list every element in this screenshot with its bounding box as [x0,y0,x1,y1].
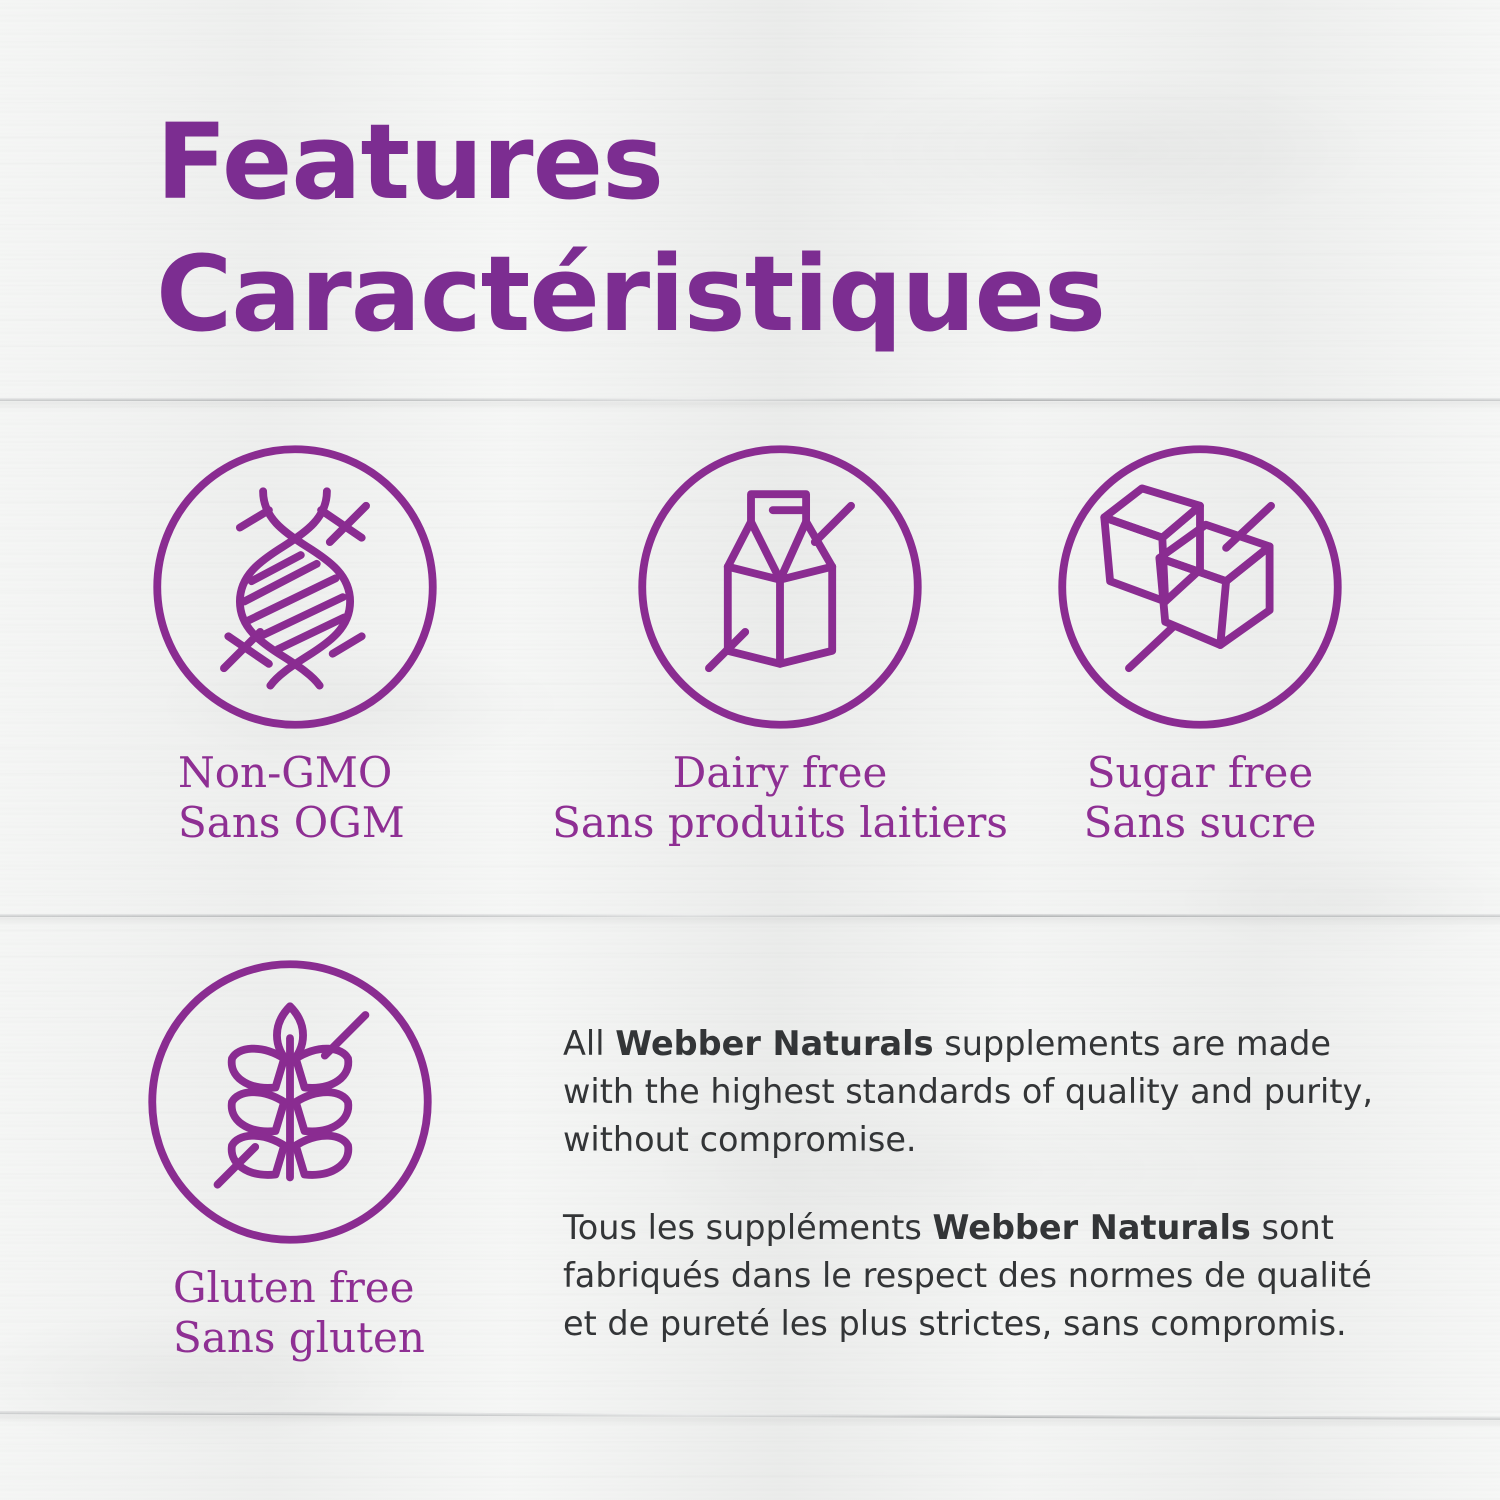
feature-sugar-free: Sugar free Sans sucre [930,442,1470,848]
wheat-no-icon [145,957,435,1247]
brand-name-en: Webber Naturals [615,1024,933,1063]
feature-label-gluten-free: Gluten free Sans gluten [5,1263,585,1363]
feature-gluten-free: Gluten free Sans gluten [5,957,585,1363]
milk-carton-no-icon [635,442,925,732]
label-en: Gluten free [173,1263,585,1313]
sugar-cubes-no-icon [1055,442,1345,732]
brand-name-fr: Webber Naturals [932,1208,1250,1247]
brand-copy-en: All Webber Naturals supplements are made… [563,1020,1383,1164]
label-en: Sugar free [930,748,1470,798]
label-fr: Sans sucre [930,798,1470,848]
page-title-line-en: Features [156,101,663,223]
page-title-line-fr: Caractéristiques [156,228,1406,360]
brand-copy-fr: Tous les suppléments Webber Naturals son… [563,1204,1383,1348]
dna-no-icon [150,442,440,732]
brand-copy-block: All Webber Naturals supplements are made… [563,1020,1383,1348]
copy-en-part1: All [563,1024,615,1063]
copy-fr-part1: Tous les suppléments [563,1208,932,1247]
label-fr: Sans gluten [173,1313,585,1363]
page-title: Features Caractéristiques [156,96,1406,360]
feature-label-sugar-free: Sugar free Sans sucre [930,748,1470,848]
